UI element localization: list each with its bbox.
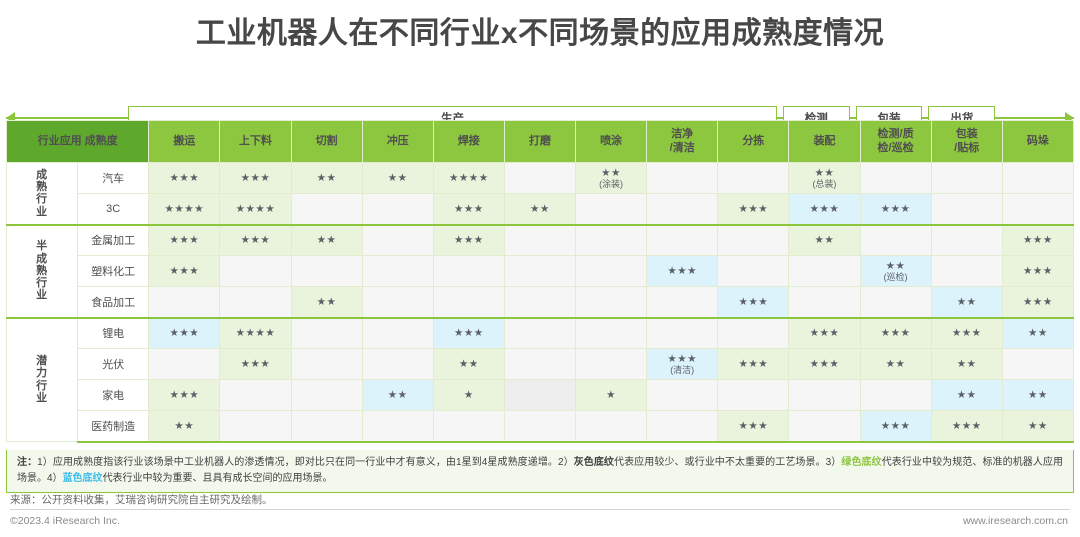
matrix-cell: ★★ xyxy=(433,349,504,380)
column-header-line: 切割 xyxy=(292,135,362,149)
matrix-cell: ★★★ xyxy=(149,256,220,287)
matrix-cell xyxy=(220,287,291,318)
matrix-cell xyxy=(931,256,1002,287)
star-rating: ★★ xyxy=(789,167,859,179)
star-rating: ★★★ xyxy=(149,172,219,184)
matrix-cell: ★★★ xyxy=(220,225,291,256)
column-header-line: /贴标 xyxy=(932,142,1002,156)
table-row: 潜力行业锂电★★★★★★★★★★★★★★★★★★★★★ xyxy=(7,318,1074,349)
matrix-cell xyxy=(362,256,433,287)
table-row: 3C★★★★★★★★★★★★★★★★★★★★★★ xyxy=(7,194,1074,225)
matrix-cell: ★★ xyxy=(931,349,1002,380)
matrix-cell xyxy=(647,225,718,256)
column-header-搬运: 搬运 xyxy=(149,121,220,163)
matrix-cell: ★★★ xyxy=(149,163,220,194)
matrix-cell: ★★★★ xyxy=(149,194,220,225)
star-rating: ★★★★ xyxy=(220,327,290,339)
star-rating: ★★★ xyxy=(434,203,504,215)
row-label-锂电: 锂电 xyxy=(78,318,149,349)
matrix-cell: ★★★ xyxy=(789,318,860,349)
group-label-char: 成 xyxy=(7,169,77,181)
column-header-洁净/清洁: 洁净/清洁 xyxy=(647,121,718,163)
matrix-cell xyxy=(149,287,220,318)
cell-note: (清洁) xyxy=(647,365,717,375)
matrix-cell xyxy=(433,256,504,287)
source-line: 来源：公开资料收集，艾瑞咨询研究院自主研究及绘制。 xyxy=(10,492,273,507)
table-row: 塑料化工★★★★★★★★(巡检)★★★ xyxy=(7,256,1074,287)
row-label-光伏: 光伏 xyxy=(78,349,149,380)
matrix-cell: ★★★ xyxy=(1002,287,1073,318)
slide-page: 工业机器人在不同行业x不同场景的应用成熟度情况 生产检测包装出货 行业应用 成熟… xyxy=(0,0,1080,537)
cell-note: (巡检) xyxy=(861,272,931,282)
matrix-cell xyxy=(362,225,433,256)
star-rating: ★★★ xyxy=(149,327,219,339)
matrix-cell xyxy=(576,194,647,225)
column-header-切割: 切割 xyxy=(291,121,362,163)
star-rating: ★★★ xyxy=(718,296,788,308)
star-rating: ★★★ xyxy=(220,234,290,246)
matrix-cell: ★★★★ xyxy=(433,163,504,194)
group-label-char: 业 xyxy=(7,289,77,301)
cell-note: (总装) xyxy=(789,179,859,189)
column-header-line: /清洁 xyxy=(647,142,717,156)
matrix-cell xyxy=(220,256,291,287)
column-header-line: 打磨 xyxy=(505,135,575,149)
matrix-cell xyxy=(789,380,860,411)
star-rating: ★★★ xyxy=(220,358,290,370)
row-label-金属加工: 金属加工 xyxy=(78,225,149,256)
matrix-cell: ★ xyxy=(576,380,647,411)
matrix-cell: ★★★ xyxy=(647,256,718,287)
star-rating: ★★ xyxy=(576,167,646,179)
footer-divider xyxy=(10,509,1070,510)
matrix-cell xyxy=(362,287,433,318)
star-rating: ★★★ xyxy=(861,420,931,432)
group-label-char: 成 xyxy=(7,253,77,265)
footnote-gray-term: 灰色底纹 xyxy=(574,457,614,468)
matrix-cell: ★ xyxy=(433,380,504,411)
matrix-cell: ★★ xyxy=(789,225,860,256)
star-rating: ★★ xyxy=(292,234,362,246)
column-header-line: 装配 xyxy=(789,135,859,149)
matrix-cell xyxy=(362,411,433,442)
corner-header-line2: 成熟度 xyxy=(85,135,118,147)
footnote-part-1: 1）应用成熟度指该行业该场景中工业机器人的渗透情况，即对比只在同一行业中才有意义… xyxy=(37,457,574,468)
corner-header: 行业应用 成熟度 xyxy=(7,121,149,163)
maturity-matrix: 行业应用 成熟度 搬运上下料切割冲压焊接打磨喷涂洁净/清洁分拣装配检测/质检/巡… xyxy=(6,120,1074,443)
matrix-cell: ★★★ xyxy=(220,349,291,380)
column-header-包装/贴标: 包装/贴标 xyxy=(931,121,1002,163)
star-rating: ★★★ xyxy=(434,327,504,339)
row-label-家电: 家电 xyxy=(78,380,149,411)
matrix-cell xyxy=(362,318,433,349)
star-rating: ★★★ xyxy=(220,172,290,184)
matrix-body: 成熟行业汽车★★★★★★★★★★★★★★★★(涂装)★★(总装)3C★★★★★★… xyxy=(7,163,1074,442)
matrix-cell: ★★★ xyxy=(860,411,931,442)
matrix-cell xyxy=(647,194,718,225)
matrix-cell xyxy=(860,380,931,411)
matrix-cell xyxy=(1002,163,1073,194)
website-text: www.iresearch.com.cn xyxy=(963,515,1068,527)
matrix-cell: ★★★ xyxy=(718,411,789,442)
matrix-cell: ★★★ xyxy=(789,194,860,225)
matrix-cell: ★★ xyxy=(291,225,362,256)
star-rating: ★★★ xyxy=(789,203,859,215)
column-header-装配: 装配 xyxy=(789,121,860,163)
star-rating: ★★ xyxy=(1003,389,1073,401)
star-rating: ★★★ xyxy=(789,327,859,339)
star-rating: ★★ xyxy=(1003,420,1073,432)
matrix-cell: ★★ xyxy=(860,349,931,380)
star-rating: ★★ xyxy=(505,203,575,215)
matrix-cell: ★★ xyxy=(1002,380,1073,411)
matrix-cell xyxy=(291,380,362,411)
matrix-cell: ★★★ xyxy=(220,163,291,194)
star-rating: ★★★ xyxy=(434,234,504,246)
star-rating: ★★ xyxy=(1003,327,1073,339)
group-label-char: 行 xyxy=(7,193,77,205)
table-row: 半成熟行业金属加工★★★★★★★★★★★★★★★★ xyxy=(7,225,1074,256)
star-rating: ★★★ xyxy=(932,420,1002,432)
column-header-line: 检测/质 xyxy=(861,128,931,142)
star-rating: ★★ xyxy=(292,172,362,184)
matrix-cell: ★★ xyxy=(931,380,1002,411)
matrix-header: 行业应用 成熟度 搬运上下料切割冲压焊接打磨喷涂洁净/清洁分拣装配检测/质检/巡… xyxy=(7,121,1074,163)
page-title: 工业机器人在不同行业x不同场景的应用成熟度情况 xyxy=(0,0,1080,52)
table-row: 家电★★★★★★★★★★★ xyxy=(7,380,1074,411)
matrix-cell xyxy=(647,318,718,349)
star-rating: ★ xyxy=(434,389,504,401)
matrix-cell: ★★★ xyxy=(1002,256,1073,287)
footnote-part-4: 代表行业中较为重要、且具有成长空间的应用场景。 xyxy=(103,473,333,484)
matrix-cell xyxy=(504,380,575,411)
star-rating: ★★★ xyxy=(861,203,931,215)
star-rating: ★★★ xyxy=(1003,234,1073,246)
matrix-cell: ★★ xyxy=(149,411,220,442)
star-rating: ★★ xyxy=(861,358,931,370)
matrix-cell: ★★ xyxy=(291,163,362,194)
row-label-3C: 3C xyxy=(78,194,149,225)
matrix-cell xyxy=(576,349,647,380)
matrix-cell xyxy=(860,225,931,256)
matrix-cell: ★★★ xyxy=(718,349,789,380)
column-header-冲压: 冲压 xyxy=(362,121,433,163)
matrix-cell: ★★★ xyxy=(149,380,220,411)
column-header-打磨: 打磨 xyxy=(504,121,575,163)
footnote-prefix: 注： xyxy=(17,457,37,468)
matrix-cell xyxy=(362,349,433,380)
column-header-line: 检/巡检 xyxy=(861,142,931,156)
matrix-cell xyxy=(149,349,220,380)
footnote-part-2: 代表应用较少、或行业中不太重要的工艺场景。3） xyxy=(614,457,841,468)
matrix-cell xyxy=(291,194,362,225)
matrix-cell xyxy=(718,380,789,411)
star-rating: ★★★ xyxy=(149,265,219,277)
matrix-cell xyxy=(291,411,362,442)
matrix-cell xyxy=(576,256,647,287)
column-header-分拣: 分拣 xyxy=(718,121,789,163)
matrix-cell: ★★★ xyxy=(860,194,931,225)
group-label-潜力行业: 潜力行业 xyxy=(7,318,78,442)
footnote: 注：1）应用成熟度指该行业该场景中工业机器人的渗透情况，即对比只在同一行业中才有… xyxy=(6,450,1074,493)
group-label-半成熟行业: 半成熟行业 xyxy=(7,225,78,318)
star-rating: ★★ xyxy=(932,296,1002,308)
matrix-cell xyxy=(362,194,433,225)
matrix-cell xyxy=(860,163,931,194)
matrix-cell xyxy=(504,225,575,256)
matrix-cell: ★★★ xyxy=(931,318,1002,349)
column-header-line: 喷涂 xyxy=(576,135,646,149)
matrix-cell: ★★ xyxy=(504,194,575,225)
matrix-cell xyxy=(220,380,291,411)
star-rating: ★★ xyxy=(932,389,1002,401)
matrix-cell xyxy=(718,318,789,349)
matrix-cell xyxy=(504,256,575,287)
group-label-char: 潜 xyxy=(7,355,77,367)
matrix-cell xyxy=(718,163,789,194)
matrix-cell xyxy=(647,287,718,318)
matrix-cell xyxy=(576,225,647,256)
row-label-食品加工: 食品加工 xyxy=(78,287,149,318)
matrix-cell: ★★ xyxy=(362,380,433,411)
star-rating: ★★★ xyxy=(1003,296,1073,308)
star-rating: ★ xyxy=(576,389,646,401)
column-header-喷涂: 喷涂 xyxy=(576,121,647,163)
column-header-检测/质检/巡检: 检测/质检/巡检 xyxy=(860,121,931,163)
matrix-cell xyxy=(291,349,362,380)
matrix-cell xyxy=(647,411,718,442)
matrix-cell xyxy=(1002,194,1073,225)
group-label-char: 力 xyxy=(7,367,77,379)
corner-header-line1: 行业应用 xyxy=(38,135,82,147)
matrix-cell xyxy=(789,256,860,287)
matrix-cell xyxy=(291,256,362,287)
matrix-cell: ★★★ xyxy=(718,287,789,318)
row-label-塑料化工: 塑料化工 xyxy=(78,256,149,287)
group-label-char: 熟 xyxy=(7,181,77,193)
star-rating: ★★★★ xyxy=(434,172,504,184)
matrix-cell: ★★(涂装) xyxy=(576,163,647,194)
matrix-cell xyxy=(789,287,860,318)
column-header-line: 上下料 xyxy=(220,135,290,149)
matrix-cell xyxy=(931,225,1002,256)
star-rating: ★★★ xyxy=(718,420,788,432)
matrix-cell: ★★★★ xyxy=(220,194,291,225)
matrix-cell: ★★★ xyxy=(718,194,789,225)
table-row: 医药制造★★★★★★★★★★★★★ xyxy=(7,411,1074,442)
matrix-cell xyxy=(576,318,647,349)
matrix-cell xyxy=(789,411,860,442)
cell-note: (涂装) xyxy=(576,179,646,189)
matrix-cell xyxy=(433,411,504,442)
matrix-cell: ★★(巡检) xyxy=(860,256,931,287)
table-row: 光伏★★★★★★★★(清洁)★★★★★★★★★★ xyxy=(7,349,1074,380)
table-row: 成熟行业汽车★★★★★★★★★★★★★★★★(涂装)★★(总装) xyxy=(7,163,1074,194)
column-header-line: 包装 xyxy=(932,128,1002,142)
star-rating: ★★★ xyxy=(647,265,717,277)
star-rating: ★★ xyxy=(434,358,504,370)
matrix-cell xyxy=(860,287,931,318)
matrix-cell xyxy=(647,163,718,194)
matrix-cell xyxy=(504,287,575,318)
matrix-cell xyxy=(718,256,789,287)
star-rating: ★★★ xyxy=(149,234,219,246)
matrix-cell xyxy=(931,163,1002,194)
group-label-char: 行 xyxy=(7,277,77,289)
matrix-cell: ★★★(清洁) xyxy=(647,349,718,380)
star-rating: ★★★ xyxy=(861,327,931,339)
matrix-cell: ★★★ xyxy=(433,194,504,225)
star-rating: ★★ xyxy=(789,234,859,246)
column-header-焊接: 焊接 xyxy=(433,121,504,163)
star-rating: ★★★★ xyxy=(149,203,219,215)
matrix-cell: ★★★ xyxy=(931,411,1002,442)
matrix-header-row: 行业应用 成熟度 搬运上下料切割冲压焊接打磨喷涂洁净/清洁分拣装配检测/质检/巡… xyxy=(7,121,1074,163)
group-label-char: 半 xyxy=(7,240,77,252)
copyright-text: ©2023.4 iResearch Inc. xyxy=(10,515,120,527)
group-label-char: 熟 xyxy=(7,265,77,277)
group-label-成熟行业: 成熟行业 xyxy=(7,163,78,225)
footnote-blue-term: 蓝色底纹 xyxy=(63,473,103,484)
matrix-cell xyxy=(291,318,362,349)
row-label-医药制造: 医药制造 xyxy=(78,411,149,442)
matrix-cell: ★★★ xyxy=(789,349,860,380)
column-header-line: 码垛 xyxy=(1003,135,1073,149)
matrix-cell xyxy=(576,287,647,318)
matrix-cell xyxy=(718,225,789,256)
matrix-cell xyxy=(504,411,575,442)
star-rating: ★★★ xyxy=(1003,265,1073,277)
star-rating: ★★ xyxy=(932,358,1002,370)
matrix-cell xyxy=(1002,349,1073,380)
table-row: 食品加工★★★★★★★★★★ xyxy=(7,287,1074,318)
matrix-cell: ★★★ xyxy=(860,318,931,349)
matrix-cell xyxy=(576,411,647,442)
matrix-cell: ★★★★ xyxy=(220,318,291,349)
matrix-cell: ★★(总装) xyxy=(789,163,860,194)
column-header-line: 焊接 xyxy=(434,135,504,149)
matrix-cell xyxy=(647,380,718,411)
star-rating: ★★ xyxy=(363,389,433,401)
column-header-line: 洁净 xyxy=(647,128,717,142)
matrix-cell: ★★ xyxy=(931,287,1002,318)
star-rating: ★★★ xyxy=(789,358,859,370)
matrix-cell: ★★★ xyxy=(149,225,220,256)
matrix-cell: ★★★ xyxy=(1002,225,1073,256)
row-label-汽车: 汽车 xyxy=(78,163,149,194)
matrix-cell: ★★ xyxy=(1002,318,1073,349)
matrix-cell: ★★★ xyxy=(433,225,504,256)
matrix-cell: ★★ xyxy=(362,163,433,194)
star-rating: ★★ xyxy=(363,172,433,184)
maturity-matrix-wrap: 行业应用 成熟度 搬运上下料切割冲压焊接打磨喷涂洁净/清洁分拣装配检测/质检/巡… xyxy=(6,120,1074,443)
star-rating: ★★ xyxy=(292,296,362,308)
star-rating: ★★★ xyxy=(718,203,788,215)
matrix-cell: ★★★ xyxy=(433,318,504,349)
matrix-cell xyxy=(504,349,575,380)
group-label-char: 业 xyxy=(7,206,77,218)
column-header-码垛: 码垛 xyxy=(1002,121,1073,163)
star-rating: ★★ xyxy=(861,260,931,272)
matrix-cell: ★★ xyxy=(291,287,362,318)
matrix-cell xyxy=(504,163,575,194)
column-header-line: 冲压 xyxy=(363,135,433,149)
matrix-cell: ★★ xyxy=(1002,411,1073,442)
star-rating: ★★ xyxy=(149,420,219,432)
star-rating: ★★★ xyxy=(149,389,219,401)
column-header-line: 分拣 xyxy=(718,135,788,149)
footnote-green-term: 绿色底纹 xyxy=(841,457,881,468)
column-header-line: 搬运 xyxy=(149,135,219,149)
matrix-cell: ★★★ xyxy=(149,318,220,349)
matrix-cell xyxy=(433,287,504,318)
column-header-上下料: 上下料 xyxy=(220,121,291,163)
star-rating: ★★★★ xyxy=(220,203,290,215)
group-label-char: 行 xyxy=(7,380,77,392)
star-rating: ★★★ xyxy=(647,353,717,365)
matrix-cell xyxy=(931,194,1002,225)
star-rating: ★★★ xyxy=(932,327,1002,339)
group-label-char: 业 xyxy=(7,392,77,404)
matrix-cell xyxy=(220,411,291,442)
star-rating: ★★★ xyxy=(718,358,788,370)
matrix-cell xyxy=(504,318,575,349)
